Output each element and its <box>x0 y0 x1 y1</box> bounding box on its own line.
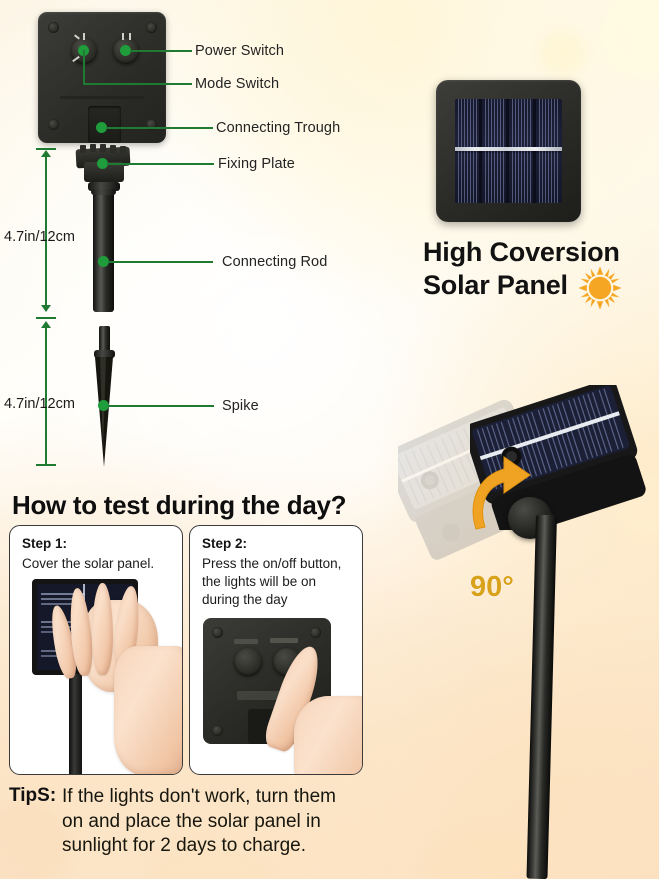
solar-feature-heading-line2: Solar Panel <box>423 270 568 300</box>
callout-leader-connecting-trough <box>106 127 213 129</box>
step2-screw <box>310 627 321 638</box>
spike-shaft <box>99 326 110 352</box>
curved-arrow-icon <box>462 455 534 535</box>
dimension-arrow-down <box>41 305 51 312</box>
callout-label-fixing-plate: Fixing Plate <box>218 156 295 172</box>
step2-mode-knob[interactable] <box>234 648 262 676</box>
housing-screw <box>48 22 59 33</box>
callout-leader-spike <box>108 405 214 407</box>
tips-label: TipS: <box>9 785 56 807</box>
fixing-plate-tooth <box>90 144 96 152</box>
housing-screw <box>146 22 157 33</box>
step-2-box: Step 2: Press the on/off button, the lig… <box>189 525 363 775</box>
step-1-title: Step 1: <box>22 536 67 551</box>
step2-screw <box>212 725 223 736</box>
step1-hand-wrist <box>114 646 182 774</box>
solar-panel-busbar <box>455 147 562 151</box>
callout-label-spike: Spike <box>222 398 259 414</box>
step2-screw <box>212 627 223 638</box>
dimension-label-rod: 4.7in/12cm <box>4 229 75 245</box>
step-1-box: Step 1: Cover the solar panel. <box>9 525 183 775</box>
dimension-label-spike: 4.7in/12cm <box>4 396 75 412</box>
callout-leader-fixing-plate <box>107 163 214 165</box>
tips-body: If the lights don't work, turn them on a… <box>62 785 392 859</box>
howto-heading: How to test during the day? <box>12 490 346 521</box>
step2-hand <box>294 696 362 774</box>
callout-label-mode-switch: Mode Switch <box>195 76 279 92</box>
rod-collar <box>91 189 116 195</box>
mode-switch-tick <box>83 33 85 40</box>
callout-label-connecting-trough: Connecting Trough <box>216 120 340 136</box>
fixing-plate-tooth <box>120 146 126 154</box>
callout-leader-mode-switch-v <box>83 50 85 85</box>
dimension-cap <box>36 464 56 466</box>
fixing-plate-tooth <box>100 144 106 152</box>
fixing-plate-tooth <box>80 145 86 153</box>
dimension-line-gap <box>45 327 47 335</box>
sun-icon <box>578 266 622 310</box>
power-switch-tick <box>122 33 124 40</box>
callout-leader-power-switch <box>130 50 192 52</box>
solar-panel-cells <box>455 99 562 203</box>
callout-label-connecting-rod: Connecting Rod <box>222 254 327 270</box>
callout-leader-connecting-rod <box>108 261 213 263</box>
step2-mode-label <box>234 639 258 644</box>
rotation-angle-label: 90° <box>470 571 514 604</box>
callout-label-power-switch: Power Switch <box>195 43 284 59</box>
callout-leader-mode-switch <box>83 83 192 85</box>
dimension-cap <box>36 148 56 150</box>
dimension-cap <box>36 317 56 319</box>
housing-seam <box>60 96 144 99</box>
step2-power-label <box>270 638 298 643</box>
housing-screw <box>48 119 59 130</box>
step-2-body: Press the on/off button, the lights will… <box>202 555 354 608</box>
connecting-rod <box>93 190 114 312</box>
step-2-title: Step 2: <box>202 536 247 551</box>
solar-feature-heading-line1: High Coversion <box>423 237 620 267</box>
fixing-plate-tooth <box>110 145 116 153</box>
step1-pole <box>69 674 82 774</box>
power-switch-tick <box>129 33 131 40</box>
step-1-body: Cover the solar panel. <box>22 555 174 573</box>
